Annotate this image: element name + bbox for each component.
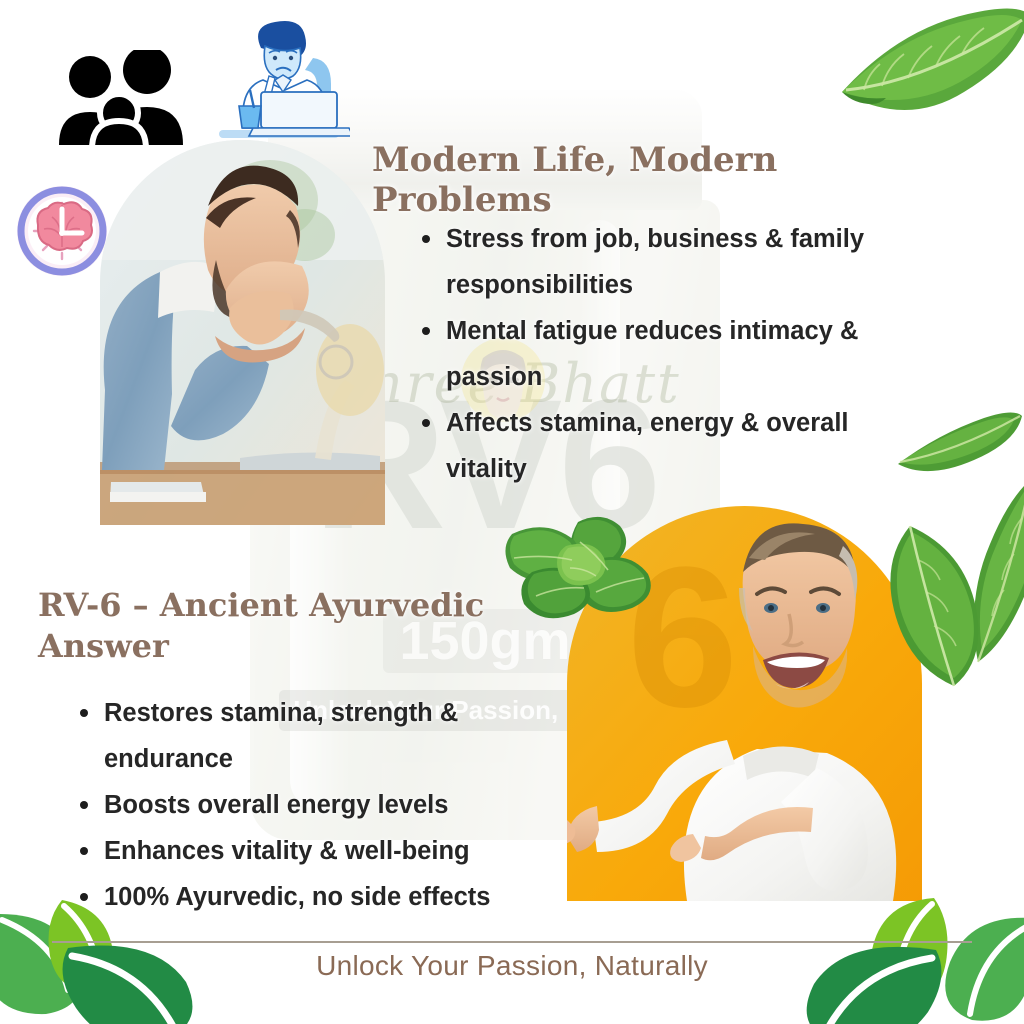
smiling-man-photo: 6 — [567, 506, 922, 901]
problems-bullet-list: Stress from job, business & family respo… — [412, 216, 932, 492]
poster-canvas: RV6 150gm Unlock Your Passion, Naturally… — [0, 0, 1024, 1024]
section-heading-solution: RV-6 – Ancient Ayurvedic Answer — [38, 585, 508, 667]
list-item: Affects stamina, energy & overall vitali… — [412, 400, 932, 492]
footer-tagline: Unlock Your Passion, Naturally — [0, 950, 1024, 982]
list-item: 100% Ayurvedic, no side effects — [70, 874, 590, 920]
mint-leaf-right-lower — [956, 478, 1024, 688]
list-item: Boosts overall energy levels — [70, 782, 590, 828]
tired-man-photo — [100, 140, 385, 525]
brain-clock-icon — [14, 183, 110, 279]
section-heading-problems: Modern Life, Modern Problems — [372, 140, 932, 220]
mint-leaf-top-right — [836, 6, 1024, 156]
list-item: Enhances vitality & well-being — [70, 828, 590, 874]
stressed-office-worker-icon — [205, 18, 350, 140]
svg-text:6: 6 — [627, 526, 738, 749]
list-item: Stress from job, business & family respo… — [412, 216, 932, 308]
benefits-bullet-list: Restores stamina, strength & endurance B… — [70, 690, 590, 920]
footer-divider — [52, 941, 972, 943]
list-item: Mental fatigue reduces intimacy & passio… — [412, 308, 932, 400]
list-item: Restores stamina, strength & endurance — [70, 690, 590, 782]
family-group-icon — [55, 50, 185, 145]
